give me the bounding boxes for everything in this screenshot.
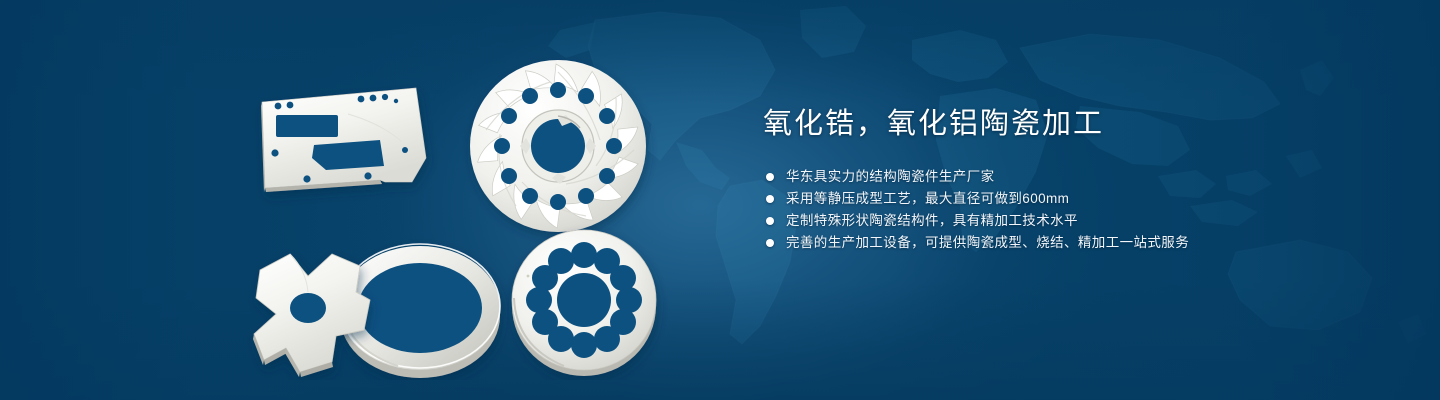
list-item: 完善的生产加工设备，可提供陶瓷成型、烧结、精加工一站式服务 bbox=[763, 232, 1363, 254]
ceramic-products-image bbox=[230, 40, 670, 380]
ceramic-impeller-disc bbox=[470, 60, 646, 232]
feature-list: 华东具实力的结构陶瓷件生产厂家 采用等静压成型工艺，最大直径可做到600mm 定… bbox=[763, 166, 1363, 254]
hero-banner: 氧化锆，氧化铝陶瓷加工 华东具实力的结构陶瓷件生产厂家 采用等静压成型工艺，最大… bbox=[0, 0, 1440, 400]
list-item: 采用等静压成型工艺，最大直径可做到600mm bbox=[763, 188, 1363, 210]
bullet-dot-icon bbox=[766, 217, 774, 225]
perforated-ceramic-disc bbox=[512, 230, 656, 376]
feature-text: 采用等静压成型工艺，最大直径可做到600mm bbox=[786, 188, 1069, 210]
bullet-dot-icon bbox=[766, 173, 774, 181]
bullet-dot-icon bbox=[766, 239, 774, 247]
cross-shaped-ceramic-part bbox=[253, 254, 370, 377]
machined-ceramic-plate bbox=[261, 88, 426, 192]
bullet-dot-icon bbox=[766, 195, 774, 203]
feature-text: 定制特殊形状陶瓷结构件，具有精加工技术水平 bbox=[786, 210, 1078, 232]
feature-text: 完善的生产加工设备，可提供陶瓷成型、烧结、精加工一站式服务 bbox=[786, 232, 1189, 254]
banner-text-block: 氧化锆，氧化铝陶瓷加工 华东具实力的结构陶瓷件生产厂家 采用等静压成型工艺，最大… bbox=[763, 104, 1363, 254]
feature-text: 华东具实力的结构陶瓷件生产厂家 bbox=[786, 166, 995, 188]
list-item: 华东具实力的结构陶瓷件生产厂家 bbox=[763, 166, 1363, 188]
page-title: 氧化锆，氧化铝陶瓷加工 bbox=[763, 104, 1363, 144]
list-item: 定制特殊形状陶瓷结构件，具有精加工技术水平 bbox=[763, 210, 1363, 232]
